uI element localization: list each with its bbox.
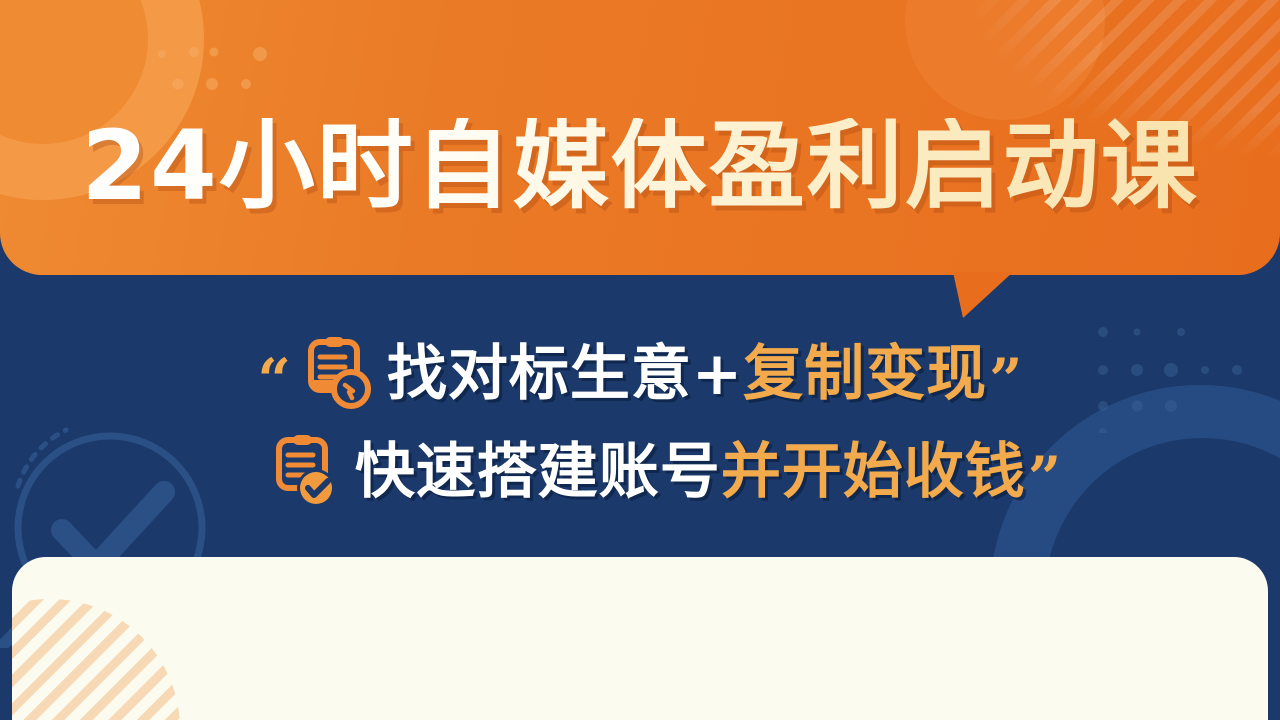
page-title: 24小时自媒体盈利启动课 — [0, 118, 1280, 214]
subtitle-line-1: “ 找对标生意+ 复制变现 ” — [0, 325, 1280, 423]
subtitle-line-1-white: 找对标生意+ — [387, 344, 743, 404]
subtitle-line-2-gold: 并开始收钱 — [721, 442, 1026, 502]
bottom-content-panel — [12, 557, 1268, 720]
subtitle-line-2-white: 快速搭建账号 — [355, 442, 721, 502]
clipboard-search-icon — [295, 335, 373, 413]
banner-dot-grid-decoration — [150, 22, 340, 117]
poster-canvas: 24小时自媒体盈利启动课 “ 找对标生意+ — [0, 0, 1280, 720]
open-quote-mark: “ — [257, 351, 290, 409]
subtitle-line-2: 快速搭建账号 并开始收钱 ” — [0, 423, 1280, 521]
subtitle-line-1-gold: 复制变现 — [743, 344, 987, 404]
striped-circle-decoration — [12, 599, 180, 720]
close-quote-mark-1: ” — [989, 351, 1022, 409]
clipboard-check-icon — [263, 433, 341, 511]
close-quote-mark-2: ” — [1028, 449, 1061, 507]
speech-bubble-tail-icon — [953, 272, 1013, 318]
subtitle-block: “ 找对标生意+ 复制变现 ” — [0, 325, 1280, 521]
